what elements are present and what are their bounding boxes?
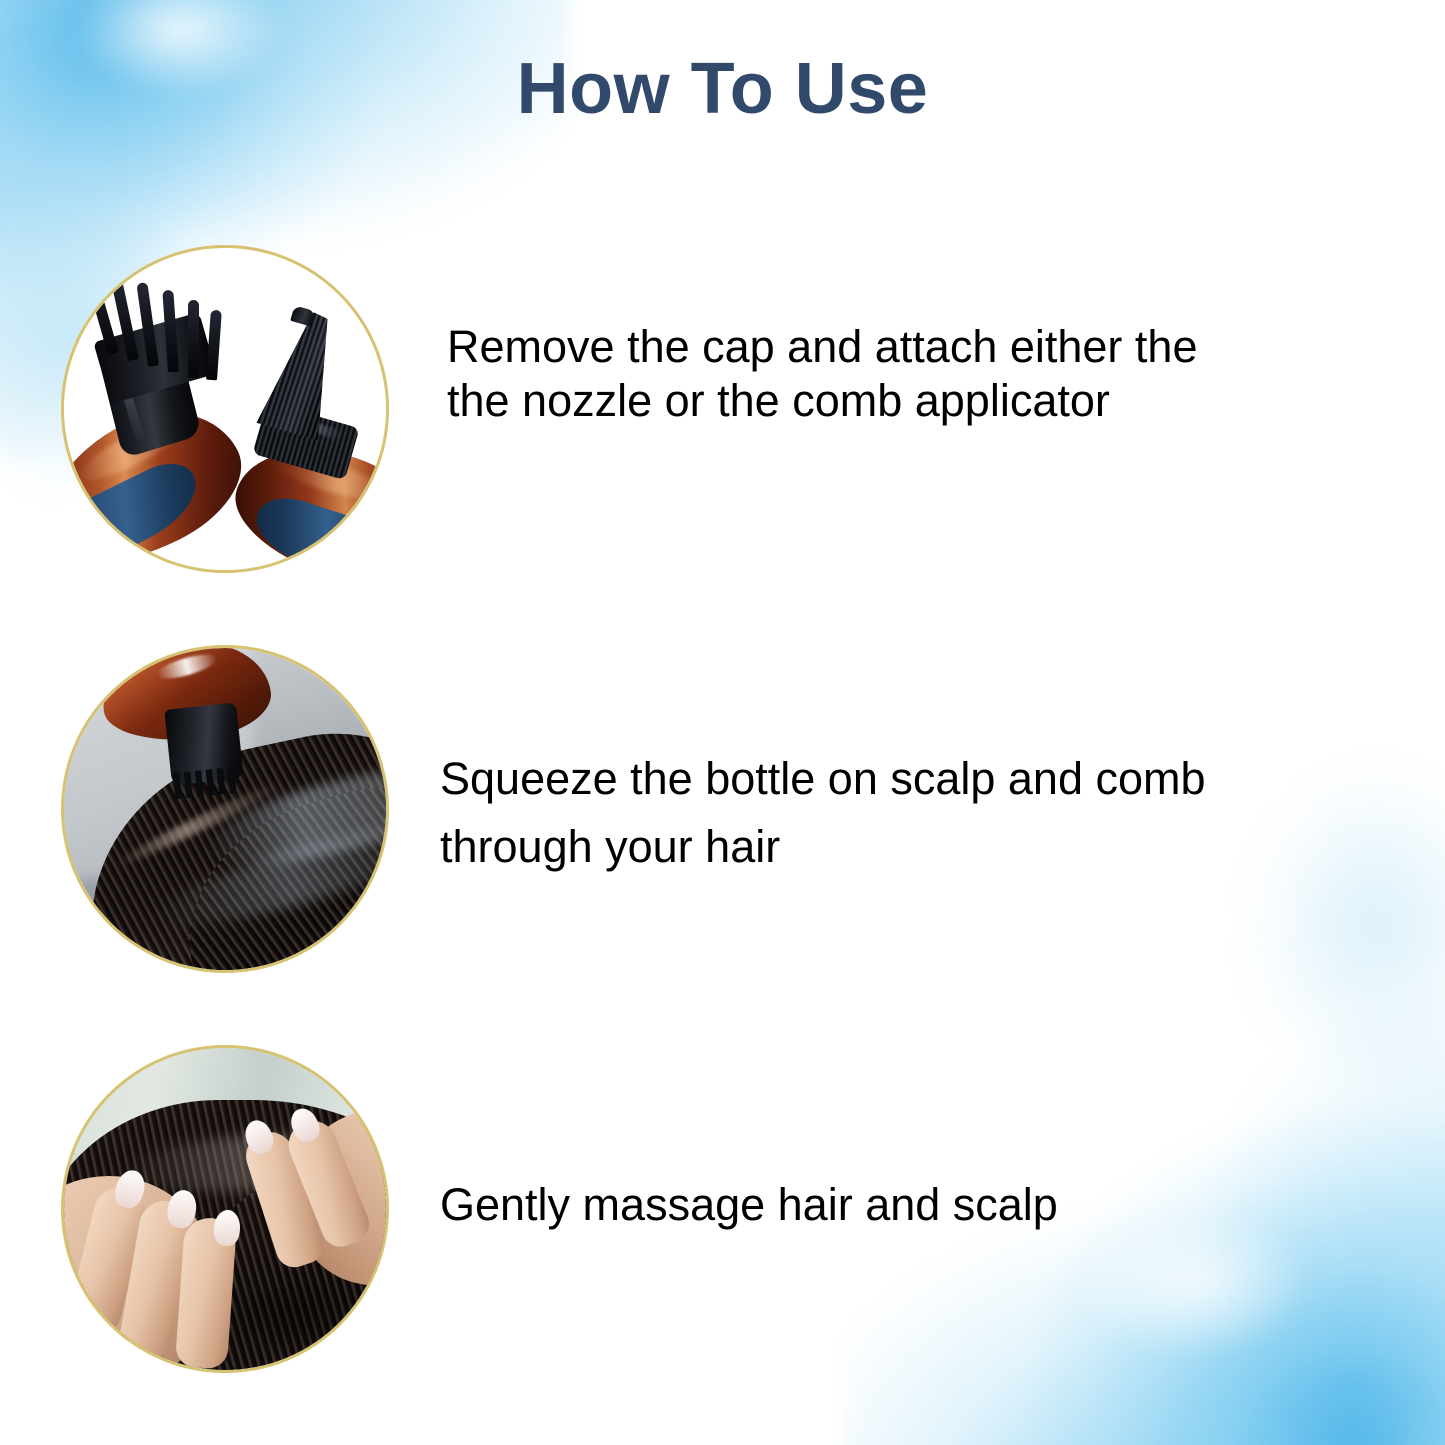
applying-oil-to-scalp-photo	[64, 648, 386, 970]
comb-prong	[188, 300, 199, 378]
gold-ring-border-1	[61, 245, 389, 573]
nozzle-tip	[290, 305, 316, 326]
massaging-scalp-photo	[64, 1048, 386, 1370]
page-title: How To Use	[0, 48, 1445, 130]
gold-ring-border-2	[61, 645, 389, 973]
step-2-image-circle	[61, 645, 389, 973]
step-1-image-circle	[61, 245, 389, 573]
step-3-text: Gently massage hair and scalp	[440, 1175, 1340, 1235]
step-2-text: Squeeze the bottle on scalp and comb thr…	[440, 745, 1340, 881]
step-3-image-circle	[61, 1045, 389, 1373]
how-to-use-infographic: How To Use	[0, 0, 1445, 1445]
watercolor-wash-top-left-deep	[0, 0, 350, 270]
comb-prong	[206, 310, 222, 381]
step-1-text: Remove the cap and attach either the the…	[447, 320, 1347, 428]
comb-and-nozzle-applicators-photo	[64, 248, 386, 570]
nozzle-cone	[256, 306, 351, 441]
gold-ring-border-3	[61, 1045, 389, 1373]
